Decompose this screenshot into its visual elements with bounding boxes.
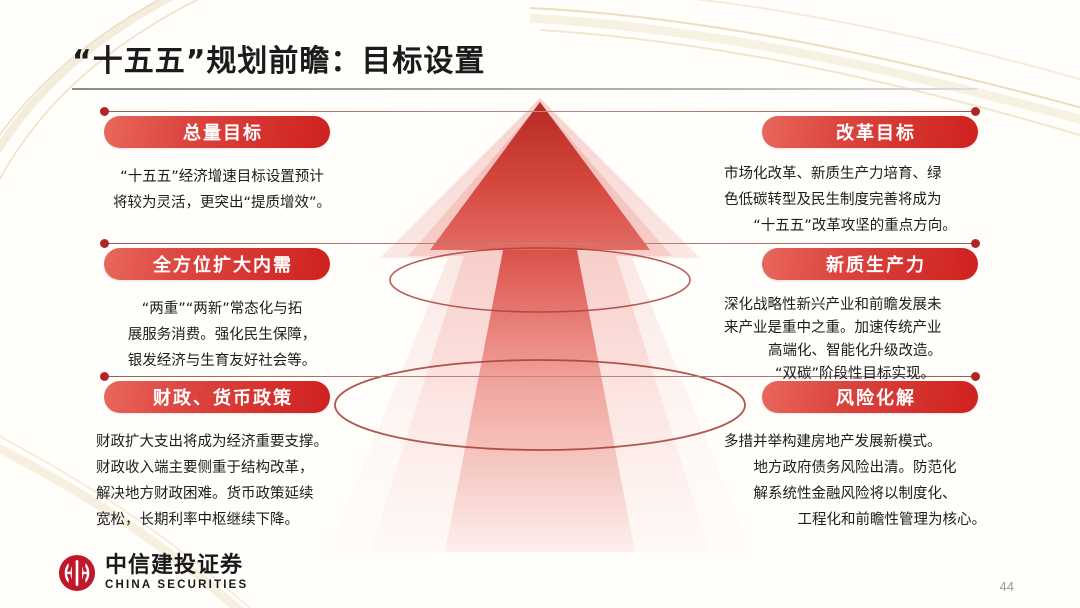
block-risk-resolution-line-4: 工程化和前瞻性管理为核心。	[724, 507, 986, 533]
page-title-text: “十五五”规划前瞻：目标设置	[72, 36, 485, 80]
connector-dot-row2-right	[971, 239, 980, 248]
connector-dot-row1-left	[100, 107, 109, 116]
connector-line-row3-left	[104, 376, 554, 377]
block-fiscal-monetary-policy-line-2: 财政收入端主要侧重于结构改革，	[96, 455, 376, 481]
block-total-target-pill[interactable]: 总量目标	[104, 116, 330, 148]
block-reform-target-pill[interactable]: 改革目标	[762, 116, 978, 148]
china-securities-emblem-icon	[58, 554, 96, 592]
block-fiscal-monetary-policy: 财政、货币政策	[104, 381, 330, 413]
block-risk-resolution-pill-label: 风险化解	[810, 384, 930, 410]
logo-chinese-name: 中信建投证券	[105, 555, 248, 577]
block-total-target-line-2: 将较为灵活，更突出“提质增效”。	[92, 190, 352, 216]
block-total-target-pill-label: 总量目标	[157, 119, 277, 145]
block-reform-target-body: 市场化改革、新质生产力培育、绿 色低碳转型及民生制度完善将成为 “十五五”改革攻…	[724, 152, 986, 239]
connector-line-row2-left	[104, 243, 554, 244]
block-reform-target-line-2: 色低碳转型及民生制度完善将成为	[724, 187, 986, 213]
block-risk-resolution-line-2: 地方政府债务风险出清。防范化	[724, 455, 986, 481]
block-reform-target-line-3: “十五五”改革攻坚的重点方向。	[724, 213, 986, 239]
block-total-target-body: “十五五”经济增速目标设置预计 将较为灵活，更突出“提质增效”。	[92, 155, 352, 216]
block-fiscal-monetary-policy-line-1: 财政扩大支出将成为经济重要支撑。	[96, 429, 376, 455]
block-new-quality-productive-forces-line-2: 来产业是重中之重。加速传统产业	[724, 317, 986, 340]
block-risk-resolution: 风险化解	[762, 381, 978, 413]
block-expand-domestic-demand-pill[interactable]: 全方位扩大内需	[104, 248, 330, 280]
connector-line-row1-right	[530, 111, 976, 112]
block-new-quality-productive-forces-pill-label: 新质生产力	[800, 251, 940, 277]
page-number: 44	[1000, 579, 1014, 594]
connector-line-row1-left	[104, 111, 554, 112]
block-new-quality-productive-forces-body: 深化战略性新兴产业和前瞻发展未 来产业是重中之重。加速传统产业 高端化、智能化升…	[724, 285, 986, 386]
slide-canvas: “十五五”规划前瞻：目标设置	[0, 0, 1080, 608]
block-reform-target-line-1: 市场化改革、新质生产力培育、绿	[724, 161, 986, 187]
block-expand-domestic-demand-line-3: 银发经济与生育友好社会等。	[92, 348, 352, 374]
block-total-target: 总量目标	[104, 116, 330, 148]
block-total-target-line-1: “十五五”经济增速目标设置预计	[92, 164, 352, 190]
block-risk-resolution-line-3: 解系统性金融风险将以制度化、	[724, 481, 986, 507]
page-title: “十五五”规划前瞻：目标设置	[72, 36, 485, 80]
connector-dot-row2-left	[100, 239, 109, 248]
block-fiscal-monetary-policy-pill[interactable]: 财政、货币政策	[104, 381, 330, 413]
connector-dot-row1-right	[971, 107, 980, 116]
block-risk-resolution-pill[interactable]: 风险化解	[762, 381, 978, 413]
block-expand-domestic-demand-body: “两重”“两新”常态化与拓 展服务消费。强化民生保障， 银发经济与生育友好社会等…	[92, 287, 352, 374]
block-fiscal-monetary-policy-body: 财政扩大支出将成为经济重要支撑。 财政收入端主要侧重于结构改革， 解决地方财政困…	[96, 420, 376, 533]
block-expand-domestic-demand-line-2: 展服务消费。强化民生保障，	[92, 322, 352, 348]
logo-english-name: CHINA SECURITIES	[105, 580, 248, 592]
block-reform-target-pill-label: 改革目标	[810, 119, 930, 145]
block-new-quality-productive-forces-line-3: 高端化、智能化升级改造。	[724, 340, 986, 363]
company-logo: 中信建投证券 CHINA SECURITIES	[58, 554, 248, 592]
block-fiscal-monetary-policy-pill-label: 财政、货币政策	[127, 384, 307, 410]
block-reform-target: 改革目标	[762, 116, 978, 148]
block-fiscal-monetary-policy-line-3: 解决地方财政困难。货币政策延续	[96, 481, 376, 507]
block-fiscal-monetary-policy-line-4: 宽松，长期利率中枢继续下降。	[96, 507, 376, 533]
block-risk-resolution-line-1: 多措并举构建房地产发展新模式。	[724, 429, 986, 455]
block-expand-domestic-demand: 全方位扩大内需	[104, 248, 330, 280]
block-risk-resolution-body: 多措并举构建房地产发展新模式。 地方政府债务风险出清。防范化 解系统性金融风险将…	[724, 420, 986, 533]
block-expand-domestic-demand-line-1: “两重”“两新”常态化与拓	[92, 296, 352, 322]
connector-line-row2-right	[530, 243, 976, 244]
block-new-quality-productive-forces-pill[interactable]: 新质生产力	[762, 248, 978, 280]
block-expand-domestic-demand-pill-label: 全方位扩大内需	[127, 251, 307, 277]
block-new-quality-productive-forces-line-1: 深化战略性新兴产业和前瞻发展未	[724, 294, 986, 317]
block-new-quality-productive-forces: 新质生产力	[762, 248, 978, 280]
